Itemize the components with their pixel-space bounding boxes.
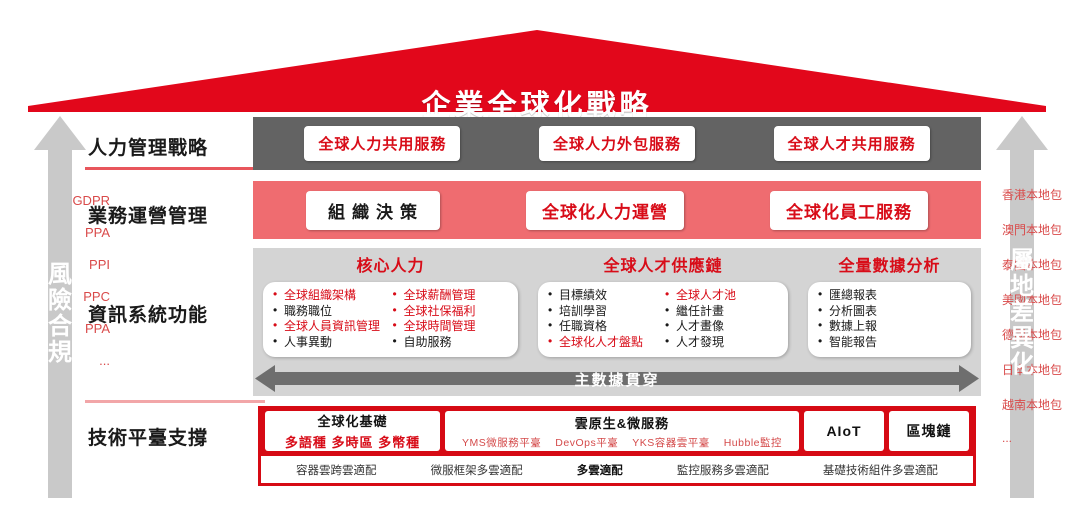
sys-list-analytics: 匯總報表分析圖表數據上報智能報告: [816, 288, 963, 350]
talent-right-item-2: 人才畫像: [663, 319, 780, 335]
band-business-operation: 組織決策 全球化人力運營 全球化員工服務: [253, 181, 981, 239]
tech-cloud-subs: YMS微服務平臺DevOps平臺YKS容器雲平臺Hubble監控: [455, 435, 789, 450]
right-vertical-label: 屬地差異化: [996, 248, 1048, 378]
sys-column-title-analytics: 全量數據分析: [798, 252, 981, 276]
adaptation-item-1: 微服框架多雲適配: [431, 462, 523, 478]
row-label-tech-platform: 技術平臺支撐: [88, 423, 208, 450]
adaptation-item-3: 監控服務多雲適配: [677, 462, 769, 478]
diagram-canvas: 企業全球化戰略 GDPR PPA PPI PPC PPA ... 香港本地包 澳…: [0, 0, 1080, 509]
band-hr-strategy: 全球人力共用服務 全球人力外包服務 全球人才共用服務: [253, 117, 981, 170]
row-label-business-operation: 業務運營管理: [88, 201, 208, 228]
sys-list-core-right: 全球薪酬管理全球社保福利全球時間管理自助服務: [391, 288, 511, 350]
right-vertical-label-char-4: 化: [996, 352, 1048, 378]
talent-left-item-3: 全球化人才盤點: [546, 335, 663, 351]
core-right-item-0: 全球薪酬管理: [391, 288, 511, 304]
tech-aiot-label: AIoT: [826, 423, 861, 439]
sys-list-talent-right: 全球人才池繼任計畫人才畫像人才發現: [663, 288, 780, 350]
core-right-item-1: 全球社保福利: [391, 304, 511, 320]
talent-right-item-1: 繼任計畫: [663, 304, 780, 320]
row-label-info-system: 資訊系統功能: [88, 300, 208, 327]
tech-cloud-sub-2: YKS容器雲平臺: [632, 437, 710, 449]
sys-card-core-hr[interactable]: 全球組織架構職務職位全球人員資訊管理人事異動 全球薪酬管理全球社保福利全球時間管…: [263, 282, 518, 357]
core-right-item-2: 全球時間管理: [391, 319, 511, 335]
tech-basis-title: 全球化基礎: [317, 411, 387, 430]
left-vertical-label-char-1: 險: [34, 288, 86, 314]
tech-box-global-basis[interactable]: 全球化基礎 多語種 多時區 多幣種: [265, 411, 440, 451]
adaptation-item-2: 多雲適配: [577, 462, 623, 478]
left-vertical-label-char-2: 合: [34, 314, 86, 340]
left-vertical-label-char-3: 規: [34, 340, 86, 366]
tech-box-blockchain[interactable]: 區塊鏈: [889, 411, 969, 451]
analytics-item-1: 分析圖表: [816, 304, 963, 320]
analytics-item-0: 匯總報表: [816, 288, 963, 304]
core-left-item-1: 職務職位: [271, 304, 391, 320]
band-tech-platform: 全球化基礎 多語種 多時區 多幣種 雲原生&微服務 YMS微服務平臺DevOps…: [258, 406, 976, 456]
core-left-item-2: 全球人員資訊管理: [271, 319, 391, 335]
divider-top: [85, 167, 265, 170]
hr-pill-1[interactable]: 全球人力外包服務: [539, 126, 695, 161]
sys-card-analytics[interactable]: 匯總報表分析圖表數據上報智能報告: [808, 282, 971, 357]
tech-cloud-title: 雲原生&微服務: [575, 413, 669, 432]
analytics-item-3: 智能報告: [816, 335, 963, 351]
talent-right-item-0: 全球人才池: [663, 288, 780, 304]
sys-column-core-hr: 核心人力 全球組織架構職務職位全球人員資訊管理人事異動 全球薪酬管理全球社保福利…: [253, 248, 528, 360]
sys-card-talent-chain[interactable]: 目標績效培訓學習任職資格全球化人才盤點 全球人才池繼任計畫人才畫像人才發現: [538, 282, 788, 357]
tech-cloud-sub-1: DevOps平臺: [555, 437, 618, 449]
adaptation-item-4: 基礎技術組件多雲適配: [823, 462, 938, 478]
right-vertical-label-char-1: 地: [996, 274, 1048, 300]
core-left-item-3: 人事異動: [271, 335, 391, 351]
tech-basis-sub: 多語種 多時區 多幣種: [285, 432, 420, 451]
core-left-item-0: 全球組織架構: [271, 288, 391, 304]
sys-column-analytics: 全量數據分析 匯總報表分析圖表數據上報智能報告: [798, 248, 981, 360]
master-data-arrow-label: 主數據貫穿: [255, 369, 979, 390]
band-multicloud-adaptation: 容器雲跨雲適配微服框架多雲適配多雲適配監控服務多雲適配基礎技術組件多雲適配: [258, 456, 976, 486]
talent-left-item-2: 任職資格: [546, 319, 663, 335]
sys-list-talent-left: 目標績效培訓學習任職資格全球化人才盤點: [546, 288, 663, 350]
roof-shape: 企業全球化戰略: [28, 30, 1046, 112]
biz-pill-org-decision[interactable]: 組織決策: [306, 191, 440, 230]
right-vertical-label-char-0: 屬: [996, 248, 1048, 274]
right-item-6: 越南本地包: [1002, 396, 1080, 413]
talent-left-item-0: 目標績效: [546, 288, 663, 304]
sys-list-core-left: 全球組織架構職務職位全球人員資訊管理人事異動: [271, 288, 391, 350]
biz-pill-0[interactable]: 全球化人力運營: [526, 191, 684, 230]
hr-pill-2[interactable]: 全球人才共用服務: [774, 126, 930, 161]
sys-column-title-core-hr: 核心人力: [253, 252, 528, 276]
tech-cloud-sub-0: YMS微服務平臺: [462, 437, 541, 449]
right-vertical-label-char-3: 異: [996, 326, 1048, 352]
divider-bottom: [85, 400, 265, 403]
core-right-item-3: 自助服務: [391, 335, 511, 351]
sys-column-talent-chain: 全球人才供應鏈 目標績效培訓學習任職資格全球化人才盤點 全球人才池繼任計畫人才畫…: [528, 248, 798, 360]
left-vertical-label: 風險合規: [34, 262, 86, 366]
right-vertical-label-char-2: 差: [996, 300, 1048, 326]
tech-blockchain-label: 區塊鏈: [907, 421, 952, 441]
right-item-1: 澳門本地包: [1002, 221, 1080, 238]
right-item-0: 香港本地包: [1002, 186, 1080, 203]
tech-box-cloud-native[interactable]: 雲原生&微服務 YMS微服務平臺DevOps平臺YKS容器雲平臺Hubble監控: [445, 411, 799, 451]
biz-pill-1[interactable]: 全球化員工服務: [770, 191, 928, 230]
tech-cloud-sub-3: Hubble監控: [724, 437, 782, 449]
tech-box-aiot[interactable]: AIoT: [804, 411, 884, 451]
row-label-hr-strategy: 人力管理戰略: [88, 133, 208, 160]
right-item-7: ...: [1002, 431, 1080, 445]
talent-left-item-1: 培訓學習: [546, 304, 663, 320]
adaptation-item-0: 容器雲跨雲適配: [296, 462, 377, 478]
talent-right-item-3: 人才發現: [663, 335, 780, 351]
analytics-item-2: 數據上報: [816, 319, 963, 335]
left-vertical-label-char-0: 風: [34, 262, 86, 288]
hr-pill-0[interactable]: 全球人力共用服務: [304, 126, 460, 161]
sys-column-title-talent-chain: 全球人才供應鏈: [528, 252, 798, 276]
